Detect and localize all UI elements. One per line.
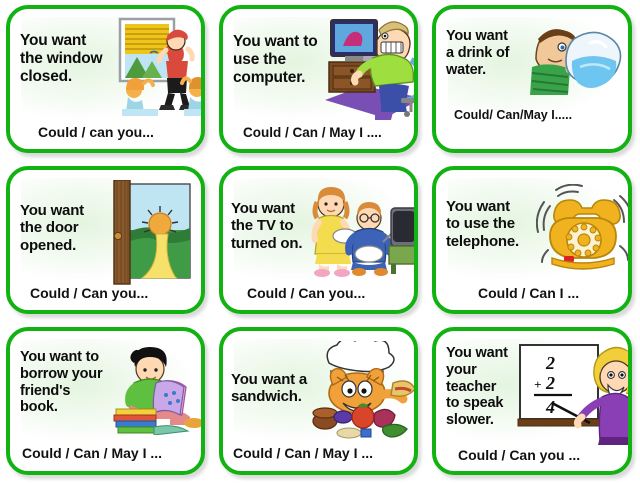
card-answer: Could / Can I ... [478, 285, 579, 301]
teacher-at-board-with-sum-icon: 2 2 + 4 [516, 339, 632, 447]
flashcard-tv-turned-on[interactable]: You want the TV to turned on. [219, 166, 418, 314]
orange-cat-chef-making-sandwich-icon [309, 341, 418, 445]
svg-text:2: 2 [545, 373, 555, 393]
card-answer: Could / Can you... [247, 285, 365, 301]
card-prompt: You want to borrow your friend's book. [20, 349, 102, 416]
flashcard-cell: You want the door opened. [0, 161, 213, 322]
flashcard-want-sandwich[interactable]: You want a sandwich. [219, 327, 418, 475]
card-prompt: You want your teacher to speak slower. [446, 345, 508, 429]
card-prompt: You want the window closed. [20, 32, 102, 86]
flashcard-drink-of-water[interactable]: You want a drink of water. [432, 5, 632, 153]
card-answer: Could / Can you... [30, 285, 148, 301]
flashcard-cell: You want your teacher to speak slower. 2… [426, 322, 640, 483]
card-answer: Could / Can / May I .... [243, 125, 382, 140]
card-answer: Could/ Can/May I..... [454, 108, 572, 122]
svg-text:+: + [534, 377, 541, 392]
card-answer: Could / Can you ... [458, 447, 580, 463]
man-at-desktop-computer-icon [323, 14, 418, 122]
card-prompt: You want the door opened. [20, 202, 84, 254]
yellow-rotary-telephone-ringing-icon [536, 184, 632, 276]
flashcard-cell: You want the TV to turned on. [213, 161, 426, 322]
flashcard-cell: You want to borrow your friend's book. [0, 322, 213, 483]
flashcard-cell: You want to use the telephone. [426, 161, 640, 322]
flashcard-grid: You want the window closed. [0, 0, 640, 483]
card-answer: Could / Can / May I ... [233, 445, 373, 461]
svg-text:2: 2 [545, 353, 555, 373]
card-prompt: You want a sandwich. [231, 371, 307, 406]
card-prompt: You want to use the telephone. [446, 198, 519, 250]
flashcard-cell: You want the window closed. [0, 0, 213, 161]
man-drinking-glass-of-water-icon [528, 25, 628, 97]
flashcard-teacher-speak-slower[interactable]: You want your teacher to speak slower. 2… [432, 327, 632, 475]
two-children-with-bowls-watching-tv-icon [305, 186, 418, 278]
boy-reading-book-with-stack-icon [110, 343, 205, 435]
flashcard-cell: You want a drink of water. [426, 0, 640, 161]
card-prompt: You want the TV to turned on. [231, 200, 302, 252]
card-answer: Could / can you... [38, 124, 154, 140]
flashcard-cell: You want to use the computer. [213, 0, 426, 161]
flashcard-use-computer[interactable]: You want to use the computer. [219, 5, 418, 153]
flashcard-window-closed[interactable]: You want the window closed. [6, 5, 205, 153]
card-prompt: You want a drink of water. [446, 28, 509, 78]
open-door-with-sunrise-path-icon [106, 180, 192, 288]
card-answer: Could / Can / May I ... [22, 445, 162, 461]
card-prompt: You want to use the computer. [233, 33, 317, 87]
flashcard-borrow-book[interactable]: You want to borrow your friend's book. [6, 327, 205, 475]
svg-text:4: 4 [545, 397, 555, 417]
flashcard-use-telephone[interactable]: You want to use the telephone. [432, 166, 632, 314]
flashcard-cell: You want a sandwich. [213, 322, 426, 483]
woman-closing-window-with-blinds-icon [104, 17, 205, 117]
flashcard-door-opened[interactable]: You want the door opened. [6, 166, 205, 314]
